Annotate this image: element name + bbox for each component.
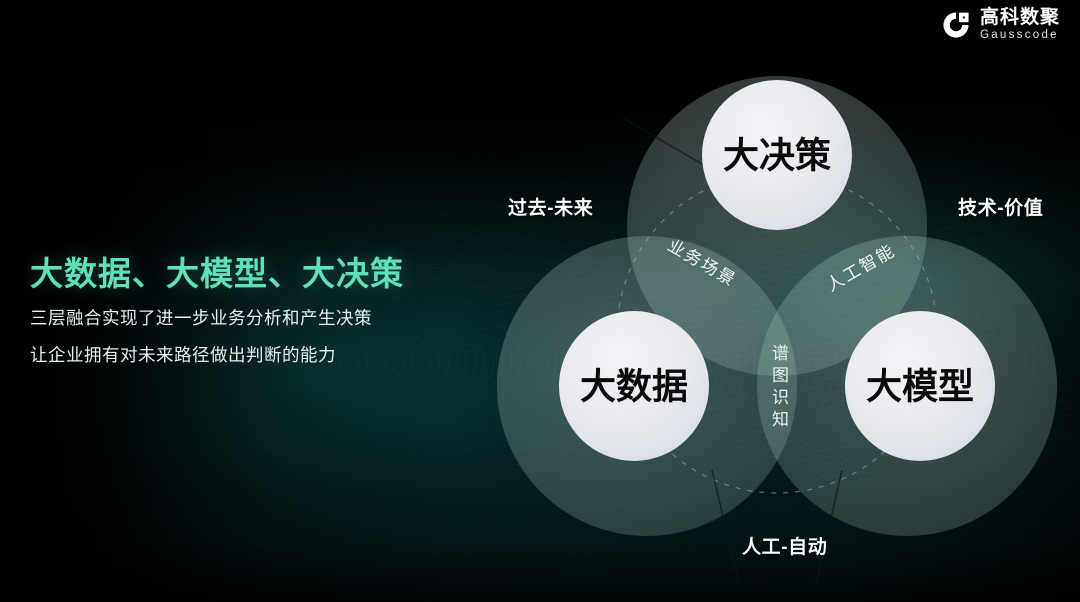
- subtitle-line-2: 让企业拥有对未来路径做出判断的能力: [30, 346, 460, 365]
- venn-core-label-big-model: 大模型: [866, 366, 974, 407]
- venn-core-label-big-decision: 大决策: [723, 135, 831, 176]
- venn-core-label-big-data: 大数据: [580, 366, 688, 407]
- left-text-block: 大数据、大模型、大决策 三层融合实现了进一步业务分析和产生决策 让企业拥有对未来…: [30, 255, 460, 365]
- venn-axis-label-manual-automatic: 人工-自动: [742, 532, 827, 559]
- page-title: 大数据、大模型、大决策: [30, 255, 460, 293]
- venn-axis-label-past-future: 过去-未来: [508, 193, 593, 220]
- subtitle-line-1: 三层融合实现了进一步业务分析和产生决策: [30, 309, 460, 328]
- venn-diagram: 大决策 大数据 大模型 业务场景 人工智能 谱图识知 过去-未来 技术-价值 人…: [494, 18, 1060, 584]
- venn-axis-label-tech-value: 技术-价值: [958, 193, 1043, 220]
- slide-canvas: 高科数聚 Gausscode 大数据、大模型、大决策 三层融合实现了进一步业务分…: [0, 0, 1080, 602]
